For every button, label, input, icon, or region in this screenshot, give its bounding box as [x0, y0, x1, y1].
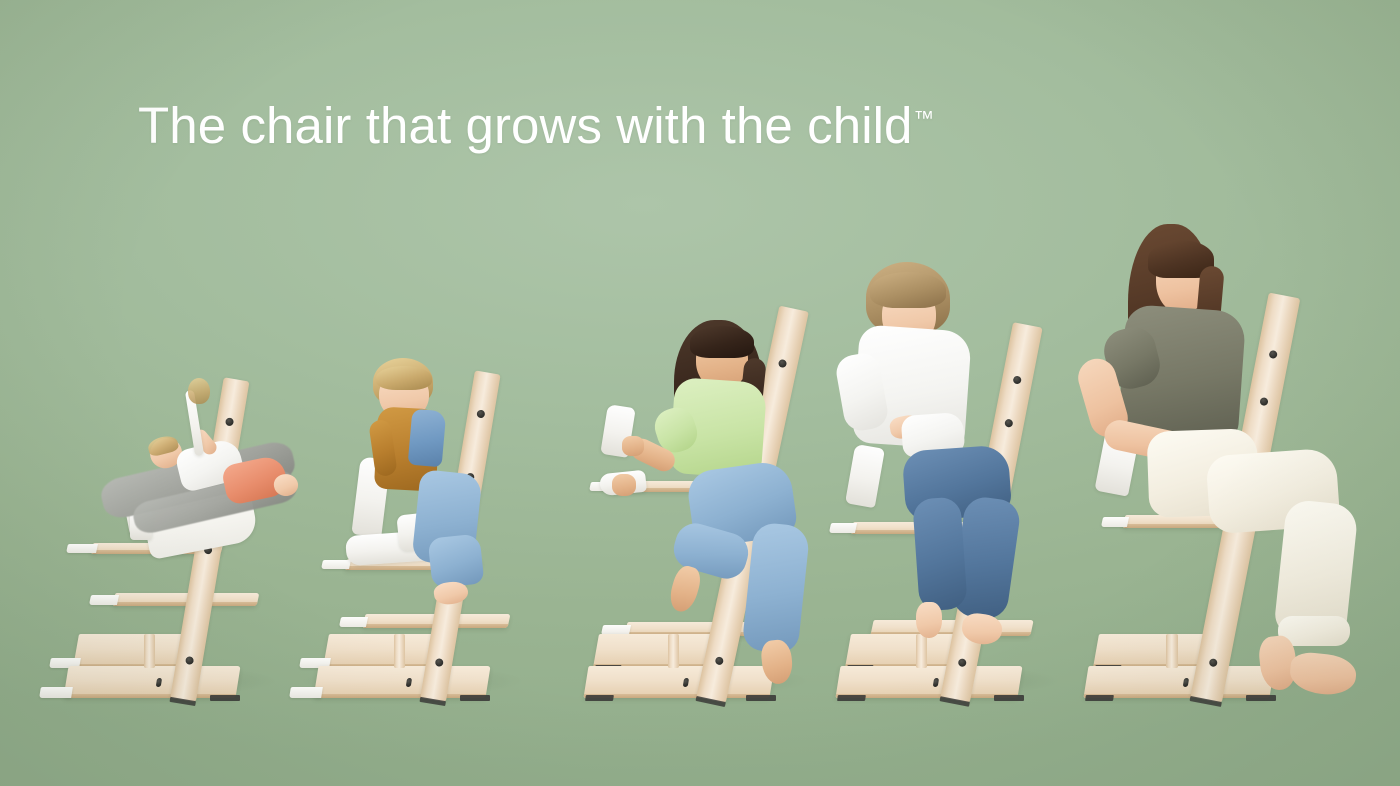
stage-5-adult	[1062, 166, 1392, 786]
girl-jeans-shin	[741, 521, 810, 654]
girl-hair-front	[690, 326, 754, 358]
woman-foot-right	[1288, 651, 1358, 698]
boy-foot-right	[960, 611, 1004, 646]
plush-toy	[188, 378, 210, 404]
person-adult-woman	[1062, 166, 1392, 786]
stage-1-newborn	[28, 366, 298, 786]
newborn-set-bouncer	[28, 366, 298, 786]
boy-jeans-shin-2	[912, 496, 968, 611]
boy-foot-left	[916, 602, 942, 638]
toddler-jeans-lower	[428, 533, 485, 588]
stage-4-older-child	[812, 216, 1092, 786]
product-stage	[0, 0, 1400, 786]
person-young-girl	[556, 266, 846, 786]
hero-banner: The chair that grows with the child™	[0, 0, 1400, 786]
girl-foot-left	[666, 563, 704, 614]
person-boy	[812, 216, 1092, 786]
boy-fringe	[870, 272, 946, 308]
girl-hand-lower	[612, 474, 636, 496]
girl-hand-upper	[622, 436, 644, 456]
stage-3-young-child	[556, 266, 846, 786]
toddler-overall-bib	[408, 409, 447, 468]
toddler-fringe	[376, 366, 432, 390]
stage-2-toddler	[280, 316, 540, 786]
person-toddler	[280, 316, 540, 786]
